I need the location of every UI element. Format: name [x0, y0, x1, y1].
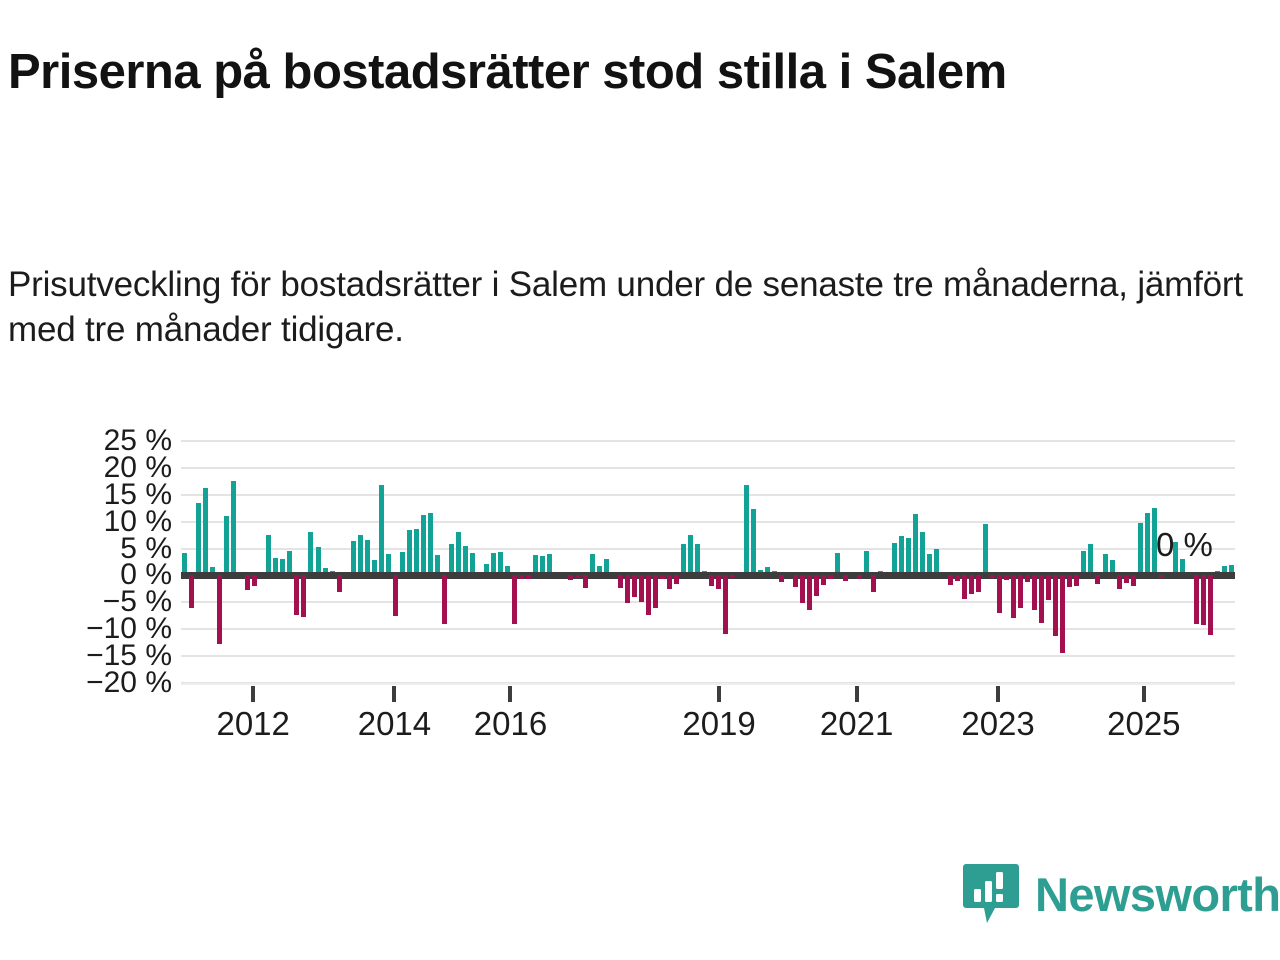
gridline	[181, 494, 1235, 496]
bar	[983, 524, 988, 576]
bar	[379, 485, 384, 576]
bar	[252, 575, 257, 586]
bar	[519, 575, 524, 578]
bar	[224, 516, 229, 575]
brand-name: Newsworthy	[1035, 871, 1280, 918]
bar	[674, 575, 679, 584]
bar	[906, 538, 911, 576]
bar	[266, 535, 271, 575]
bar	[351, 541, 356, 575]
bar	[1074, 575, 1079, 586]
page-subtitle: Prisutveckling för bostadsrätter i Salem…	[8, 263, 1268, 353]
bar	[358, 535, 363, 575]
bar	[203, 488, 208, 576]
bar	[301, 575, 306, 617]
bar	[428, 513, 433, 575]
bar	[1053, 575, 1058, 635]
bar	[934, 549, 939, 576]
bar	[955, 575, 960, 580]
bar	[920, 532, 925, 575]
gridline	[181, 628, 1235, 630]
x-axis-tick-label: 2012	[216, 707, 289, 740]
bar	[1131, 575, 1136, 586]
bar	[308, 532, 313, 575]
bar	[990, 575, 995, 577]
bar	[217, 575, 222, 644]
bar	[744, 485, 749, 576]
bar	[843, 575, 848, 580]
bar	[1039, 575, 1044, 622]
zero-annotation: 0 %	[1156, 528, 1213, 561]
bar	[948, 575, 953, 585]
x-axis-tick-mark	[717, 686, 721, 702]
gridline	[181, 548, 1235, 550]
bar	[1124, 575, 1129, 583]
bar	[1138, 523, 1143, 576]
bar	[1088, 544, 1093, 575]
bar	[667, 575, 672, 589]
bar	[639, 575, 644, 602]
bar	[1208, 575, 1213, 634]
bar	[892, 543, 897, 575]
bar	[337, 575, 342, 591]
newsworthy-logo: Newsworthy	[963, 862, 1280, 926]
bar	[646, 575, 651, 615]
bar	[1018, 575, 1023, 607]
bar	[463, 546, 468, 575]
gridline	[181, 440, 1235, 442]
bar	[568, 575, 573, 580]
bar	[969, 575, 974, 593]
bar	[709, 575, 714, 586]
bar	[245, 575, 250, 590]
bar	[625, 575, 630, 602]
x-axis-line	[181, 683, 1235, 685]
bar	[618, 575, 623, 588]
x-axis-tick-label: 2025	[1107, 707, 1180, 740]
bar	[231, 481, 236, 576]
bar	[294, 575, 299, 615]
x-axis-tick-mark	[855, 686, 859, 702]
bar	[857, 575, 862, 578]
bar	[976, 575, 981, 591]
bar	[814, 575, 819, 595]
x-axis-tick-mark	[251, 686, 255, 702]
bar	[442, 575, 447, 623]
bar	[653, 575, 658, 607]
bar	[1004, 575, 1009, 580]
bar	[1117, 575, 1122, 589]
y-axis-tick-label: −20 %	[22, 668, 172, 698]
bar	[1145, 513, 1150, 575]
bar	[456, 532, 461, 575]
bar	[393, 575, 398, 616]
x-axis-tick-mark	[996, 686, 1000, 702]
bar	[723, 575, 728, 633]
y-axis: 25 %20 %15 %10 %5 %0 %−5 %−10 %−15 %−20 …	[0, 425, 172, 695]
x-axis-tick-label: 2021	[820, 707, 893, 740]
x-axis-tick-label: 2016	[474, 707, 547, 740]
bar	[1060, 575, 1065, 653]
bar	[695, 544, 700, 575]
bar	[407, 530, 412, 575]
bar	[800, 575, 805, 603]
bar	[751, 509, 756, 575]
x-axis-tick-label: 2023	[961, 707, 1034, 740]
bar	[512, 575, 517, 623]
gridline	[181, 655, 1235, 657]
page-title: Priserna på bostadsrätter stod stilla i …	[8, 44, 1158, 101]
bar	[1046, 575, 1051, 599]
bar	[807, 575, 812, 610]
bar-chart: 25 %20 %15 %10 %5 %0 %−5 %−10 %−15 %−20 …	[0, 425, 1280, 755]
bar	[632, 575, 637, 597]
bar	[1011, 575, 1016, 618]
bar	[1201, 575, 1206, 624]
bar	[1032, 575, 1037, 609]
x-axis-tick-mark	[508, 686, 512, 702]
gridline	[181, 521, 1235, 523]
bar	[688, 535, 693, 576]
bar-chart-speech-bubble-icon	[963, 862, 1019, 926]
bar	[1067, 575, 1072, 587]
bar	[1159, 575, 1164, 577]
bar	[421, 515, 426, 576]
bar	[1025, 575, 1030, 581]
bar	[871, 575, 876, 591]
x-axis-tick-mark	[1142, 686, 1146, 702]
bar	[526, 575, 531, 579]
bar	[962, 575, 967, 599]
bar	[716, 575, 721, 589]
bar	[189, 575, 194, 607]
bar	[730, 575, 735, 576]
gridline	[181, 467, 1235, 469]
bar	[449, 544, 454, 575]
bar	[1194, 575, 1199, 623]
bar	[681, 544, 686, 575]
bar	[997, 575, 1002, 613]
bar	[316, 547, 321, 575]
bar	[414, 529, 419, 575]
bar	[365, 540, 370, 575]
bar	[828, 575, 833, 578]
bar	[660, 575, 665, 578]
bar	[821, 575, 826, 585]
bar	[583, 575, 588, 588]
x-axis-tick-label: 2014	[358, 707, 431, 740]
x-axis-tick-label: 2019	[682, 707, 755, 740]
bar	[779, 575, 784, 581]
plot-area	[181, 441, 1235, 683]
bar	[793, 575, 798, 587]
x-axis-tick-mark	[392, 686, 396, 702]
bar	[196, 503, 201, 576]
bar	[899, 536, 904, 576]
bar	[1095, 575, 1100, 583]
gridline	[181, 601, 1235, 603]
bar	[913, 514, 918, 576]
bar	[576, 575, 581, 577]
